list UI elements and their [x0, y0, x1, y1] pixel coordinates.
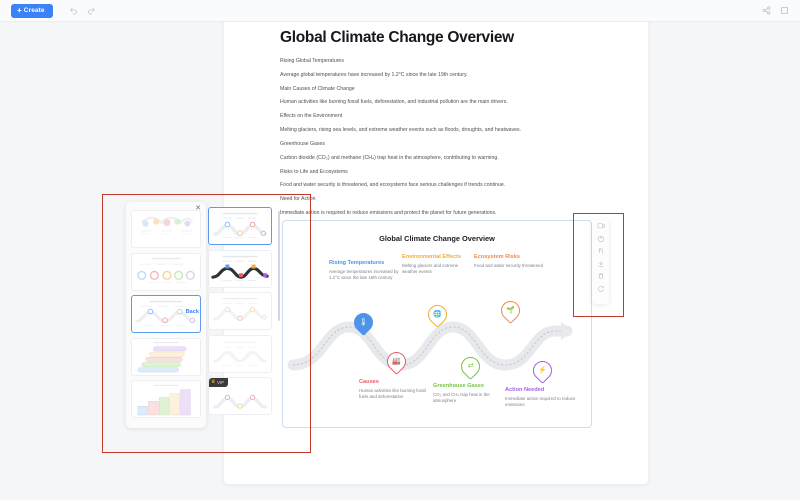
thumb-graphic [132, 211, 200, 248]
document-body: Rising Global Temperatures Average globa… [280, 58, 610, 224]
more-icon[interactable] [780, 6, 789, 15]
image-replace-icon[interactable] [597, 222, 605, 230]
plus-icon: + [17, 7, 22, 15]
item-heading: Greenhouse Gases [433, 383, 505, 390]
template-thumb-wave-outline[interactable] [208, 335, 272, 373]
infographic-item: Rising Temperatures Average temperatures… [329, 260, 401, 281]
redo-icon[interactable] [87, 6, 96, 15]
undo-icon[interactable] [69, 6, 78, 15]
item-body: Human activities like burning fossil fue… [359, 388, 431, 400]
vip-label: VIP [217, 380, 224, 385]
palette-icon[interactable] [597, 235, 605, 243]
thumb-graphic [132, 381, 200, 418]
doc-line: Carbon dioxide (CO₂) and methane (CH₄) t… [280, 155, 610, 161]
infographic-item: Causes Human activities like burning fos… [359, 379, 431, 400]
doc-line: Main Causes of Climate Change [280, 86, 610, 92]
infographic-item: Ecosystem Risks Food and water security … [474, 254, 546, 269]
top-toolbar: + Create [0, 0, 800, 22]
template-thumb-wave-pastel[interactable] [208, 292, 272, 330]
template-thumb-wave-vip[interactable]: ♛ VIP [208, 377, 272, 415]
thumb-graphic [132, 339, 200, 376]
crop-icon[interactable] [597, 247, 605, 255]
thumb-graphic [132, 254, 200, 291]
template-list-secondary[interactable]: ♛ VIP [208, 207, 280, 429]
template-list-scrollbar[interactable] [278, 211, 280, 321]
back-button[interactable]: Back [186, 309, 199, 315]
item-heading: Rising Temperatures [329, 260, 401, 267]
item-body: CO₂ and CH₄ trap heat in the atmosphere [433, 392, 505, 404]
doc-line: Immediate action is required to reduce e… [280, 210, 610, 216]
share-icon[interactable] [762, 6, 771, 15]
infographic-item: Environmental Effects Melting glaciers a… [402, 254, 474, 275]
item-body: Average temperatures increased by 1.2°C … [329, 269, 401, 281]
doc-line: Need for Action [280, 196, 610, 202]
template-panel[interactable]: ✕ › Back ‹ [126, 202, 206, 428]
doc-line: Human activities like burning fossil fue… [280, 99, 610, 105]
element-context-toolbar[interactable] [592, 219, 609, 304]
template-thumb-flow-arc[interactable] [131, 210, 201, 248]
doc-line: Effects on the Environment [280, 113, 610, 119]
infographic-item: Action Needed Immediate action required … [505, 387, 577, 408]
doc-line: Greenhouse Gases [280, 141, 610, 147]
create-button-label: Create [24, 7, 45, 14]
thumb-graphic [209, 208, 271, 245]
thumb-graphic [209, 336, 271, 373]
download-icon[interactable] [597, 260, 605, 268]
crown-icon: ♛ [211, 380, 215, 385]
topbar-right-group [762, 6, 789, 15]
infographic-card[interactable]: Global Climate Change Overview Rising Te… [282, 220, 592, 428]
doc-line: Average global temperatures have increas… [280, 72, 610, 78]
vip-badge: ♛ VIP [209, 378, 228, 387]
template-thumb-wave-dark[interactable] [208, 250, 272, 288]
item-body: Food and water security threatened [474, 263, 546, 269]
undo-redo-group [69, 6, 96, 15]
infographic-item: Greenhouse Gases CO₂ and CH₄ trap heat i… [433, 383, 505, 404]
doc-line: Rising Global Temperatures [280, 58, 610, 64]
template-thumb-circles-row[interactable]: › [131, 253, 201, 291]
template-thumb-wave-road[interactable]: Back ‹ [131, 295, 201, 333]
item-heading: Action Needed [505, 387, 577, 394]
item-heading: Ecosystem Risks [474, 254, 546, 261]
doc-line: Food and water security is threatened, a… [280, 182, 610, 188]
item-body: Immediate action required to reduce emis… [505, 396, 577, 408]
doc-line: Risks to Life and Ecosystems [280, 169, 610, 175]
item-heading: Causes [359, 379, 431, 386]
thumb-graphic [209, 251, 271, 288]
reset-icon[interactable] [597, 285, 605, 293]
template-thumb-stacked-bars[interactable]: › [131, 338, 201, 376]
item-body: Melting glaciers and extreme weather eve… [402, 263, 474, 275]
template-thumb-ascending-bars[interactable]: › [131, 380, 201, 418]
template-thumb-wave-light[interactable] [208, 207, 272, 245]
create-button[interactable]: + Create [11, 4, 53, 18]
item-heading: Environmental Effects [402, 254, 474, 261]
delete-icon[interactable] [597, 272, 605, 280]
thumb-graphic [209, 293, 271, 330]
page-title: Global Climate Change Overview [280, 29, 514, 47]
doc-line: Melting glaciers, rising sea levels, and… [280, 127, 610, 133]
infographic-title: Global Climate Change Overview [283, 234, 591, 243]
document-page: Global Climate Change Overview Rising Gl… [224, 14, 648, 484]
